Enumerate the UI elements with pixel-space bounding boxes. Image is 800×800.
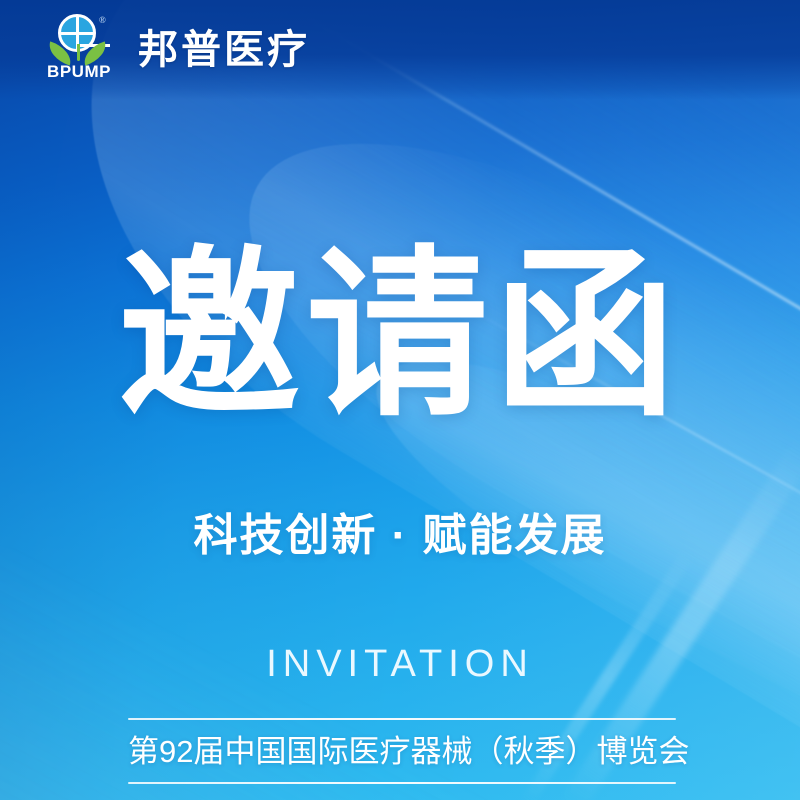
- logo-stem-icon: [77, 44, 80, 61]
- logo-wordmark: BPUMP: [44, 63, 114, 80]
- brand-header-bar: ® BPUMP 邦普医疗: [0, 0, 800, 100]
- footer-rule-bottom: [128, 782, 676, 784]
- page-title: 邀请函: [0, 244, 800, 426]
- footer-block: 第92届中国国际医疗器械（秋季）博览会: [128, 718, 676, 784]
- brand-name-chinese: 邦普医疗: [138, 30, 310, 70]
- registered-trademark-icon: ®: [99, 15, 106, 25]
- page-title-english: INVITATION: [0, 645, 800, 683]
- page-subtitle: 科技创新 · 赋能发展: [0, 510, 800, 563]
- invitation-poster: ® BPUMP 邦普医疗 邀请函 科技创新 · 赋能发展 INVITATION …: [0, 0, 800, 800]
- event-name: 第92届中国国际医疗器械（秋季）博览会: [128, 720, 676, 782]
- bpump-flower-logo-icon: ® BPUMP: [44, 13, 114, 87]
